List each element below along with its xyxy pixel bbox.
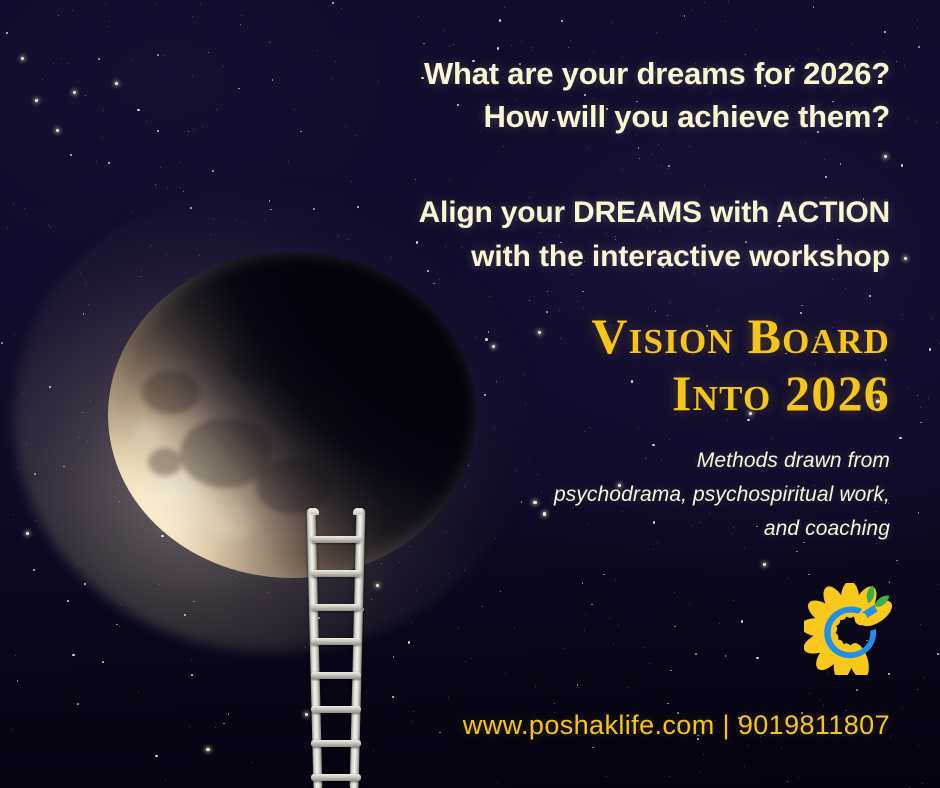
headline: What are your dreams for 2026? How will … <box>330 52 890 139</box>
footer-separator: | <box>723 710 730 740</box>
methods-line-2: psychodrama, psychospiritual work, <box>420 478 890 512</box>
subheadline-line-2: with the interactive workshop <box>330 235 890 279</box>
website-link[interactable]: www.poshaklife.com <box>463 710 715 740</box>
ladder-to-the-moon <box>307 508 365 788</box>
headline-line-1: What are your dreams for 2026? <box>330 52 890 95</box>
person-head-icon <box>855 612 868 625</box>
poster-canvas: What are your dreams for 2026? How will … <box>0 0 940 788</box>
methods-line-1: Methods drawn from <box>420 444 890 478</box>
methods-description: Methods drawn from psychodrama, psychosp… <box>420 444 890 546</box>
subheadline-line-1: Align your DREAMS with ACTION <box>330 191 890 235</box>
poshak-life-logo[interactable] <box>804 583 896 675</box>
headline-line-2: How will you achieve them? <box>330 95 890 138</box>
contact-footer: www.poshaklife.com | 9019811807 <box>330 710 890 741</box>
subheadline: Align your DREAMS with ACTION with the i… <box>330 191 890 278</box>
phone-number[interactable]: 9019811807 <box>738 710 890 740</box>
workshop-title-line-2: Into 2026 <box>390 366 890 421</box>
workshop-title-line-1: Vision Board <box>390 309 890 364</box>
methods-line-3: and coaching <box>420 512 890 546</box>
workshop-title: Vision Board Into 2026 <box>390 309 890 421</box>
